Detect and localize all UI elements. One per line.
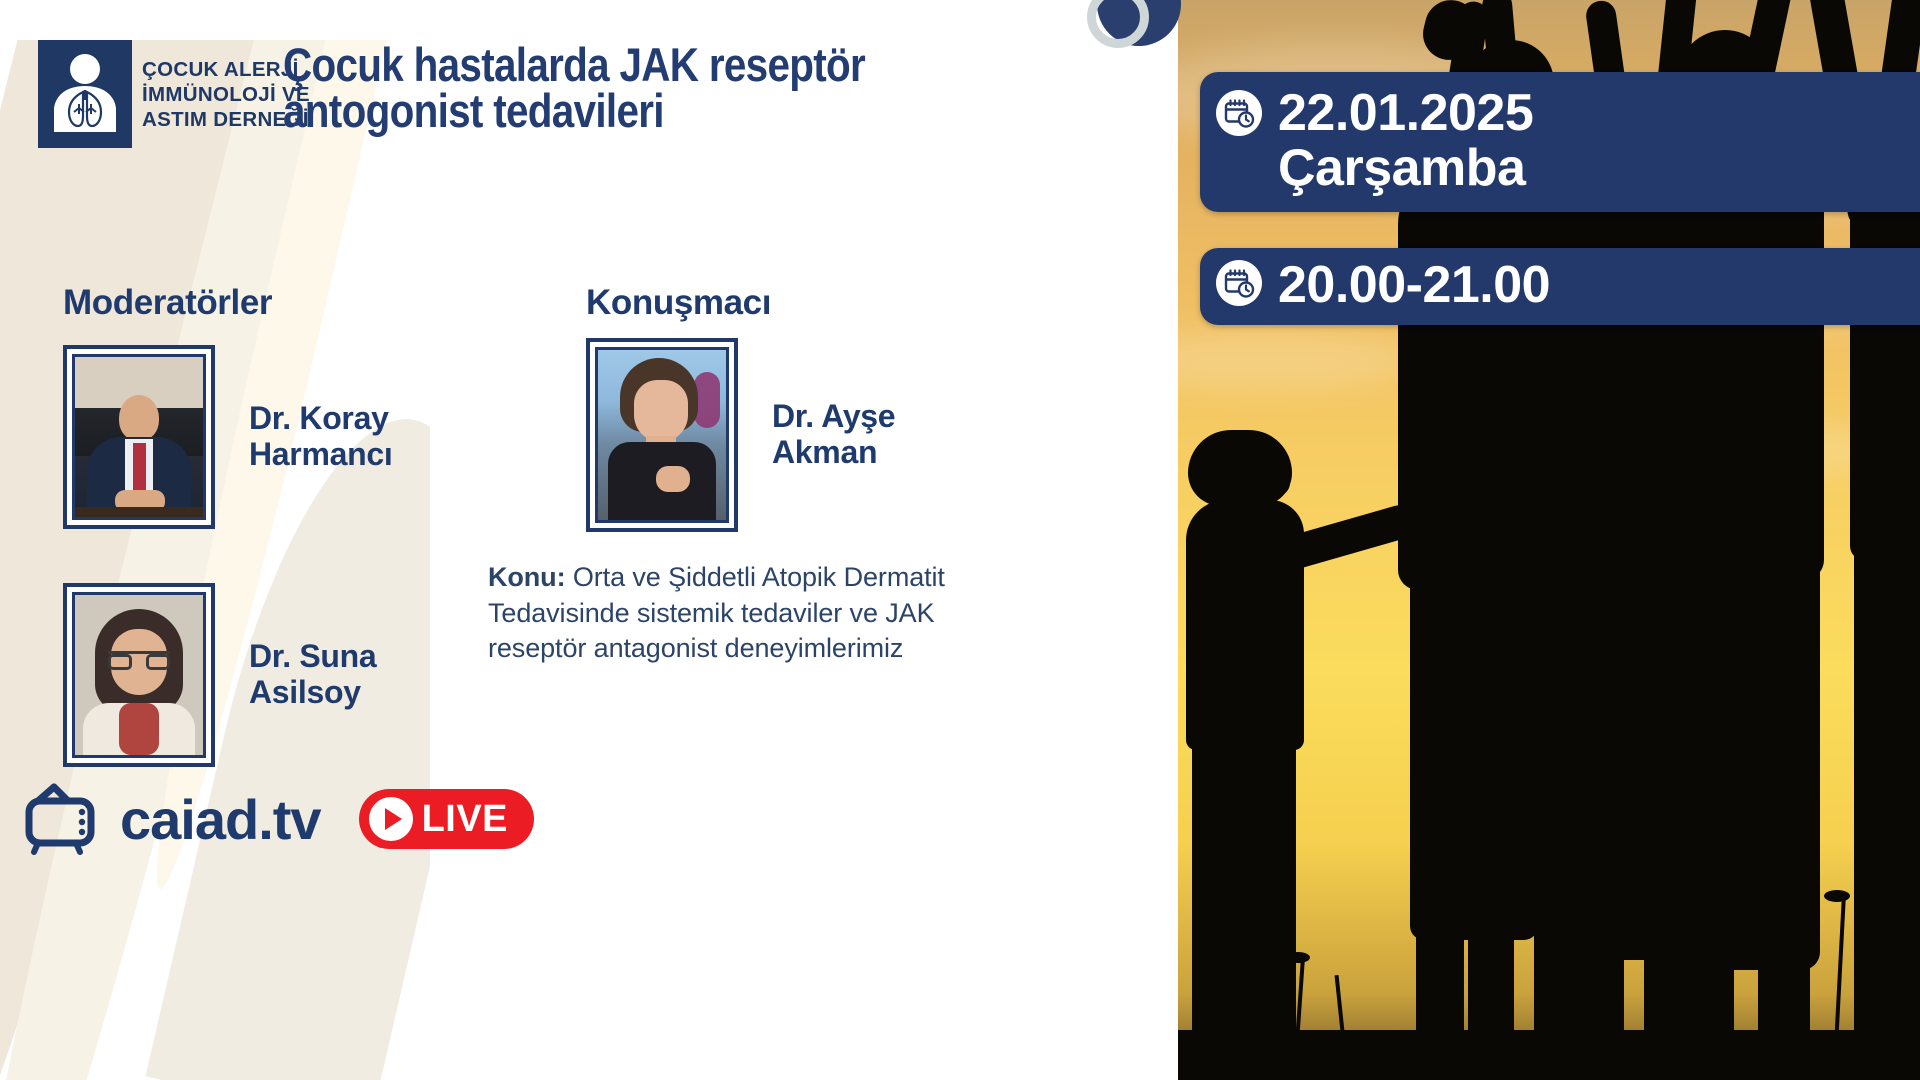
calendar-clock-icon <box>1216 90 1262 136</box>
organization-logo: ÇOCUK ALERJİ İMMÜNOLOJİ VE ASTIM DERNEĞİ <box>38 40 310 148</box>
date-text: 22.01.2025 Çarşamba <box>1278 86 1533 196</box>
moderator-name: Dr. Koray Harmancı <box>249 401 392 473</box>
moderators-heading: Moderatörler <box>63 283 272 323</box>
photo-frame <box>63 583 215 767</box>
brand-name[interactable]: caiad.tv <box>120 787 321 852</box>
moderator-name: Dr. Suna Asilsoy <box>249 639 376 711</box>
page-title: Çocuk hastalarda JAK reseptör antogonist… <box>283 42 885 134</box>
calendar-clock-icon <box>1216 260 1262 306</box>
play-circle-icon <box>369 797 413 841</box>
photo-frame <box>586 338 738 532</box>
time-text: 20.00-21.00 <box>1278 258 1550 313</box>
live-badge[interactable]: LIVE <box>359 789 534 849</box>
avatar <box>595 347 729 523</box>
time-badge: 20.00-21.00 <box>1200 248 1920 325</box>
footer-brand-bar: caiad.tv LIVE <box>24 782 534 856</box>
webinar-poster: ÇOCUK ALERJİ İMMÜNOLOJİ VE ASTIM DERNEĞİ… <box>0 0 1920 1080</box>
date-badge: 22.01.2025 Çarşamba <box>1200 72 1920 212</box>
photo-frame <box>63 345 215 529</box>
avatar <box>72 592 206 758</box>
television-icon <box>24 782 110 856</box>
speaker-heading: Konuşmacı <box>586 283 771 323</box>
moderator-card: Dr. Suna Asilsoy <box>63 583 376 767</box>
avatar <box>72 354 206 520</box>
poster-header: ÇOCUK ALERJİ İMMÜNOLOJİ VE ASTIM DERNEĞİ… <box>0 0 1178 190</box>
speaker-name: Dr. Ayşe Akman <box>772 399 895 471</box>
topic-label: Konu: <box>488 562 565 592</box>
speaker-card: Dr. Ayşe Akman <box>586 338 895 532</box>
moderator-card: Dr. Koray Harmancı <box>63 345 392 529</box>
live-label: LIVE <box>422 798 508 841</box>
person-lungs-icon <box>38 40 132 148</box>
topic-description: Konu: Orta ve Şiddetli Atopik Dermatit T… <box>488 560 968 667</box>
